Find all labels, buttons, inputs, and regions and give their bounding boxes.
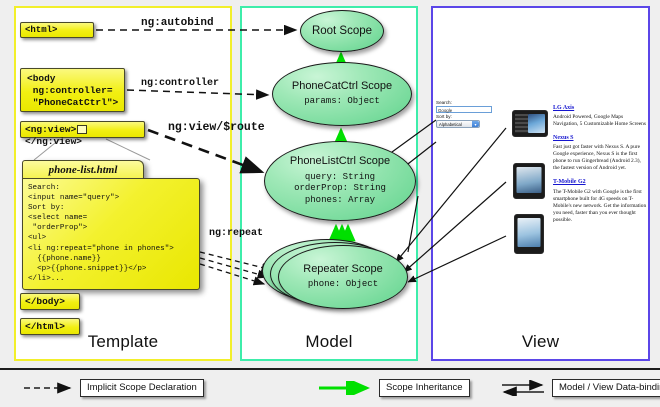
legend-label-data-binding: Model / View Data-binding: [552, 379, 660, 397]
scope-root: Root Scope: [300, 10, 384, 52]
tag-ng-view: <ng:view></ng:view>: [20, 121, 145, 138]
sort-select-value: Alphabetical: [439, 122, 462, 127]
sort-label: Sort by:: [436, 114, 496, 120]
phone-snippet-2: Fast just got faster with Nexus S. A pur…: [553, 144, 647, 172]
legend-label-implicit-scope: Implicit Scope Declaration: [80, 379, 204, 397]
phone-thumbnail-2: [513, 163, 545, 199]
legend-double-arrow-icon: [500, 380, 552, 396]
sort-select[interactable]: Alphabetical▾: [436, 120, 480, 128]
tag-html-open: <html>: [20, 22, 94, 38]
phone-keyboard-icon: [515, 114, 528, 133]
legend-item-scope-inheritance: Scope Inheritance: [317, 379, 470, 397]
tag-ng-view-close: </ng:view>: [25, 136, 82, 147]
phone-thumbnail-3: [514, 214, 544, 254]
scope-phonecatctrl: PhoneCatCtrl Scope params: Object: [272, 62, 412, 126]
phone-link-3[interactable]: T-Mobile G2: [553, 179, 647, 186]
scope-repeater: Repeater Scope phone: Object: [278, 245, 408, 309]
note-code: Search: <input name="query"> Sort by: <s…: [22, 178, 200, 290]
panel-label-model: Model: [240, 332, 418, 352]
placeholder-square-icon: [77, 125, 87, 134]
edge-label-ng-autobind: ng:autobind: [141, 17, 214, 29]
legend-item-data-binding: Model / View Data-binding: [500, 379, 660, 397]
scope-phonelistctrl-props: query: String orderProp: String phones: …: [294, 172, 386, 207]
phone-screen-1: [528, 114, 545, 133]
legend-item-implicit-scope: Implicit Scope Declaration: [22, 379, 204, 397]
view-search-form: Search: Google Sort by: Alphabetical▾: [436, 100, 496, 128]
phone-thumbnail-1: [512, 110, 548, 137]
diagram-canvas: <html> <body ng:controller= "PhoneCatCtr…: [0, 0, 660, 405]
phone-screen-2: [517, 167, 542, 193]
scope-phonelistctrl: PhoneListCtrl Scope query: String orderP…: [264, 141, 416, 221]
panel-label-view: View: [431, 332, 650, 352]
view-phone-list: LG Axis Android Powered, Google Maps Nav…: [553, 105, 647, 231]
list-item: Nexus S Fast just got faster with Nexus …: [553, 135, 647, 172]
scope-phonelistctrl-name: PhoneListCtrl Scope: [290, 155, 390, 167]
tag-body-open: <body ng:controller= "PhoneCatCtrl">: [20, 68, 125, 112]
search-input[interactable]: Google: [436, 106, 492, 113]
panel-label-template: Template: [14, 332, 232, 352]
phone-snippet-3: The T-Mobile G2 with Google is the first…: [553, 189, 647, 224]
note-title: phone-list.html: [22, 160, 144, 180]
scope-repeater-name: Repeater Scope: [303, 263, 383, 275]
list-item: LG Axis Android Powered, Google Maps Nav…: [553, 105, 647, 128]
legend-label-scope-inheritance: Scope Inheritance: [379, 379, 470, 397]
phone-snippet-1: Android Powered, Google Maps Navigation,…: [553, 114, 647, 128]
edge-label-ng-controller: ng:controller: [141, 78, 219, 89]
legend: Implicit Scope Declaration Scope Inherit…: [0, 368, 660, 407]
legend-dashed-arrow-icon: [22, 381, 80, 395]
template-note-phone-list: phone-list.html Search: <input name="que…: [22, 160, 200, 290]
scope-root-name: Root Scope: [312, 25, 372, 38]
phone-screen-3: [518, 218, 541, 247]
chevron-down-icon: ▾: [472, 121, 479, 127]
scope-phonecatctrl-name: PhoneCatCtrl Scope: [292, 80, 392, 92]
edge-label-ng-repeat: ng:repeat: [209, 228, 263, 239]
tag-ng-view-open: <ng:view>: [25, 124, 76, 135]
phone-link-2[interactable]: Nexus S: [553, 135, 647, 142]
list-item: T-Mobile G2 The T-Mobile G2 with Google …: [553, 179, 647, 223]
scope-phonecatctrl-props: params: Object: [304, 96, 380, 108]
legend-green-arrow-icon: [317, 381, 379, 395]
tag-body-close: </body>: [20, 293, 80, 310]
scope-repeater-props: phone: Object: [308, 279, 378, 291]
edge-label-ng-view-route: ng:view/$route: [168, 121, 265, 134]
phone-link-1[interactable]: LG Axis: [553, 105, 647, 112]
